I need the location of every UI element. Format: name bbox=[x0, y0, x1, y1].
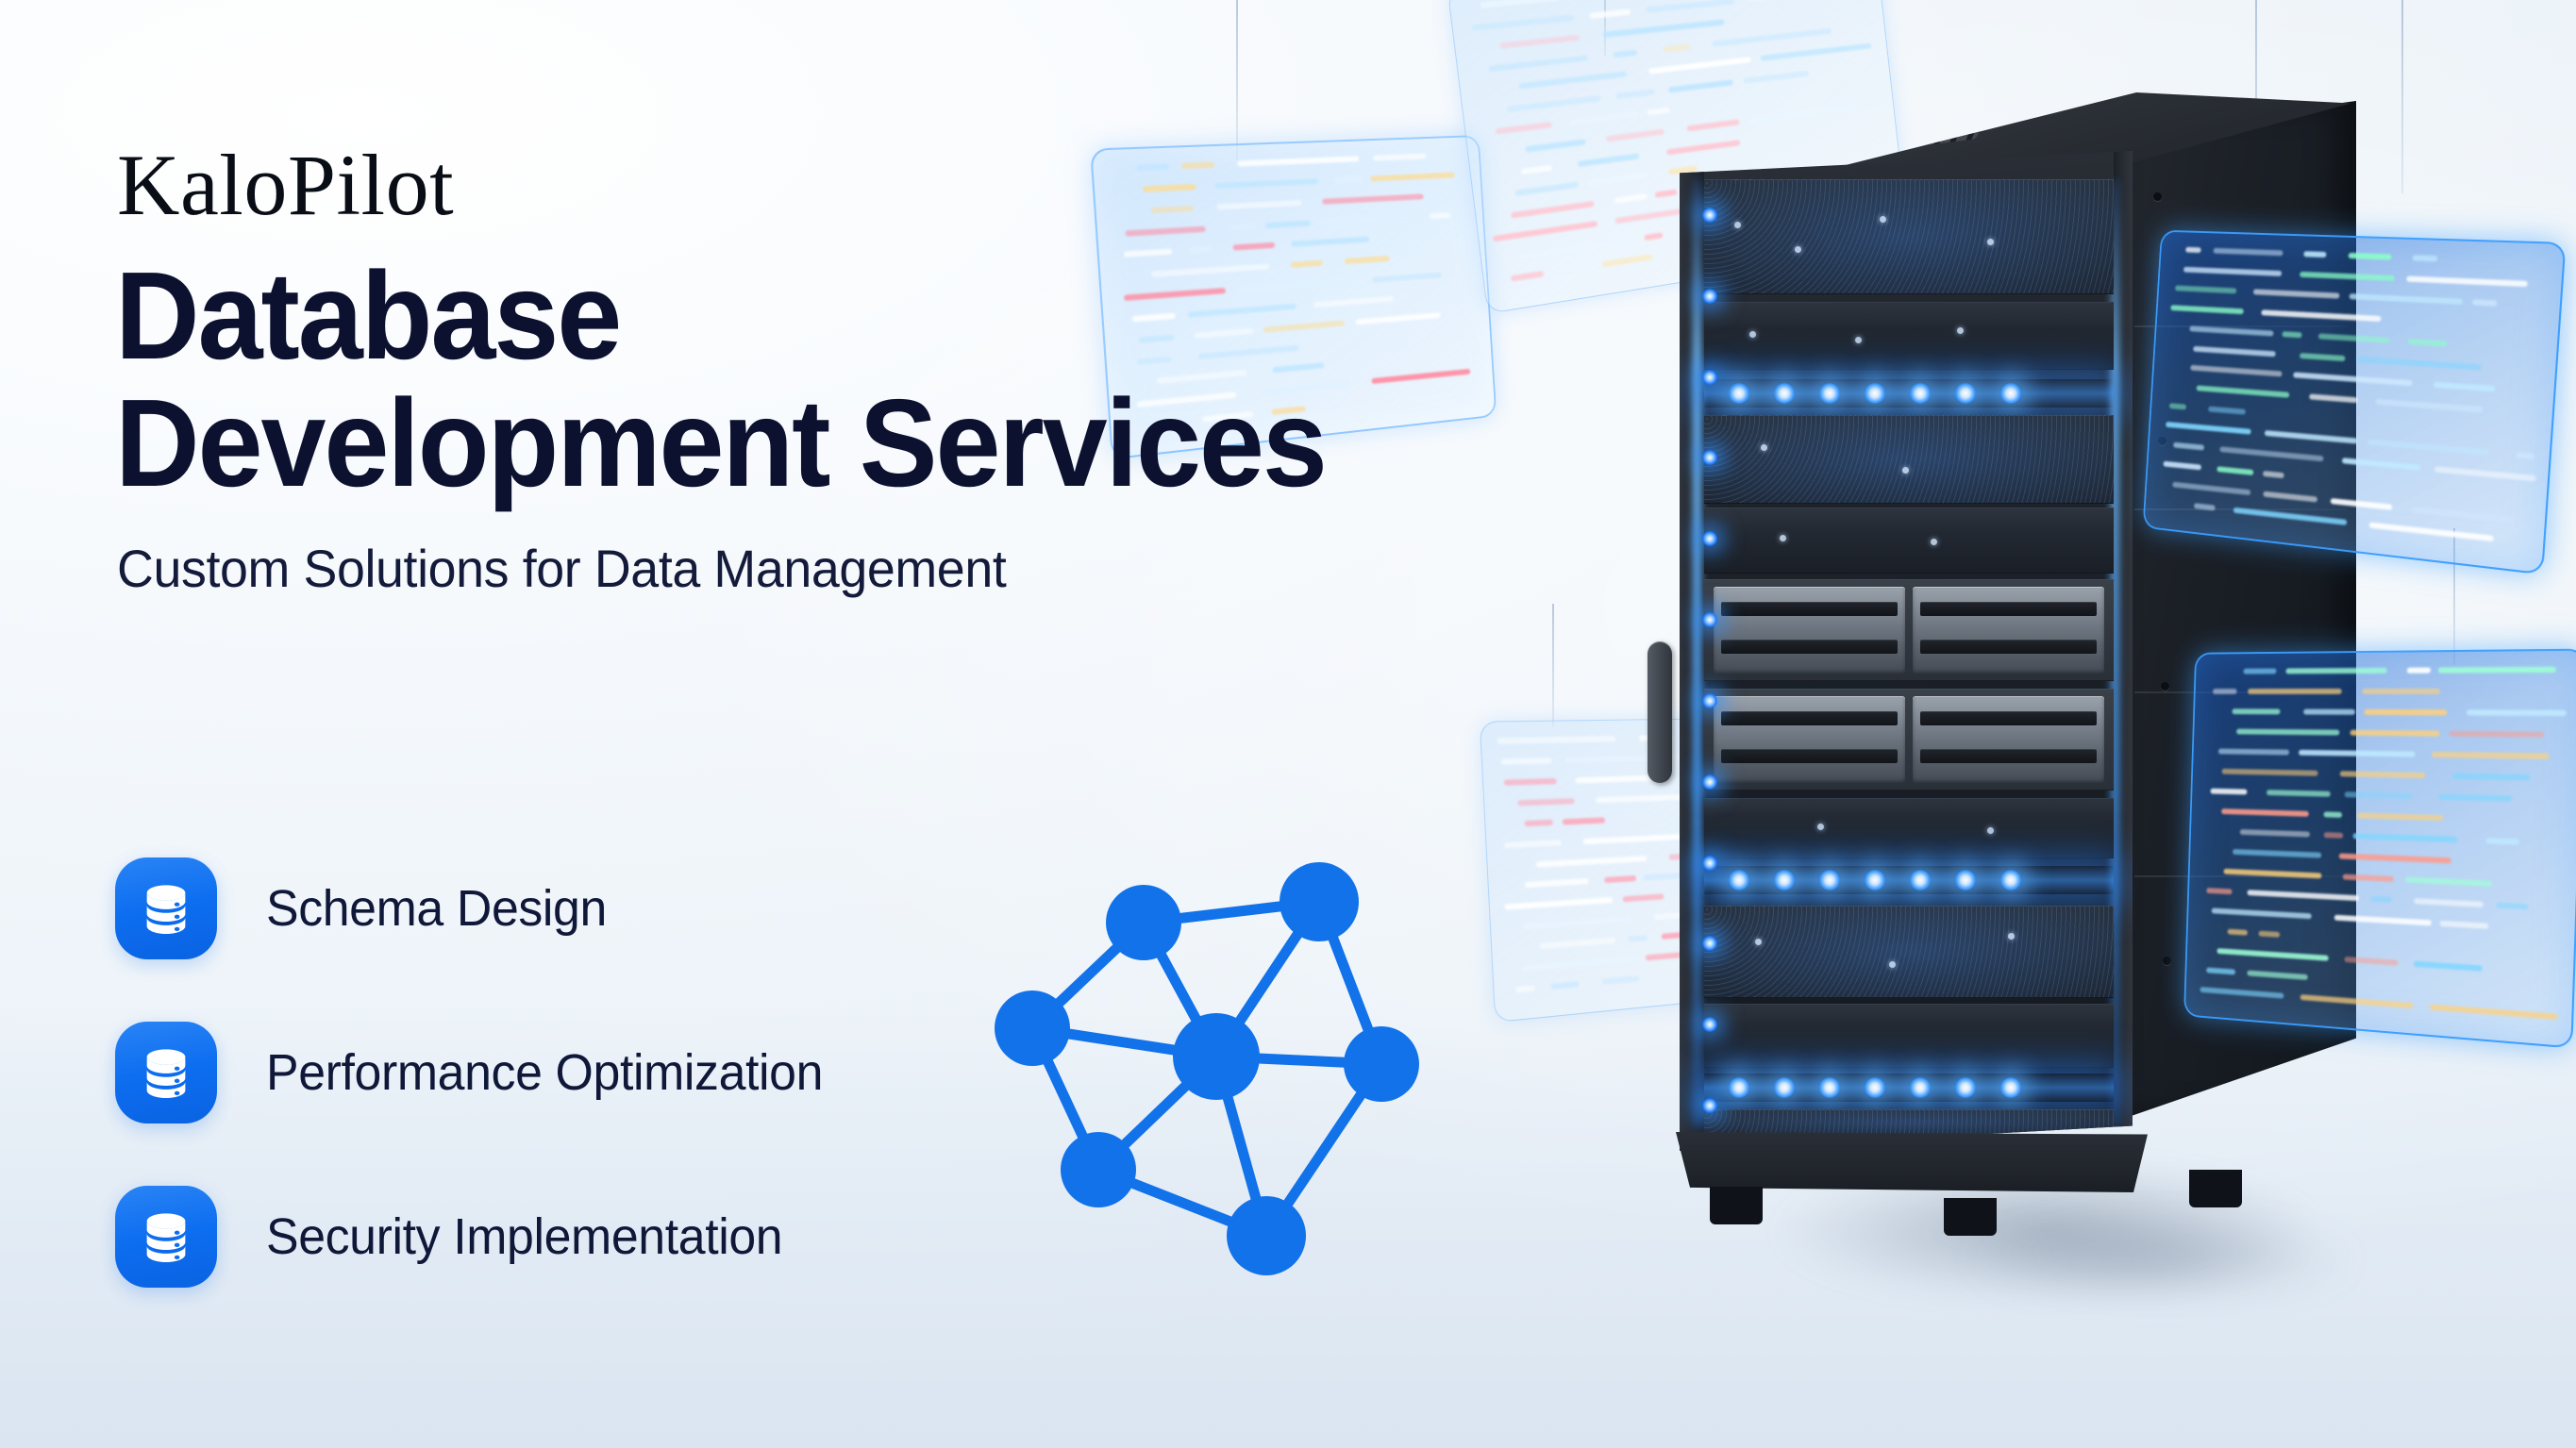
code-line-segment bbox=[2438, 667, 2556, 674]
code-line-segment bbox=[2212, 907, 2312, 919]
code-line-segment bbox=[1539, 938, 1615, 950]
code-line-segment bbox=[1515, 985, 1535, 992]
code-line-segment bbox=[2432, 752, 2550, 759]
code-line-segment bbox=[2263, 471, 2284, 478]
code-line-segment bbox=[1589, 8, 1631, 19]
code-line-segment bbox=[1613, 49, 1637, 58]
code-line-segment bbox=[2263, 491, 2317, 502]
code-line-segment bbox=[2331, 498, 2393, 510]
code-line-segment bbox=[1504, 778, 1557, 786]
code-line-segment bbox=[2449, 731, 2544, 738]
code-line-segment bbox=[2303, 251, 2326, 258]
code-line-segment bbox=[1606, 129, 1664, 142]
code-line-segment bbox=[2300, 994, 2414, 1008]
code-line-segment bbox=[2166, 422, 2251, 435]
code-line-segment bbox=[2352, 833, 2457, 842]
rack-door-handle bbox=[1648, 641, 1672, 783]
rack-unit bbox=[1704, 179, 2114, 294]
code-line-segment bbox=[2467, 709, 2567, 716]
code-line-segment bbox=[2194, 503, 2216, 510]
rack-foot bbox=[1710, 1187, 1763, 1224]
code-line-segment bbox=[1623, 894, 1664, 903]
code-line-segment bbox=[1603, 20, 1725, 39]
code-line-segment bbox=[2208, 406, 2246, 414]
code-line-segment bbox=[2236, 729, 2339, 736]
code-line-segment bbox=[1569, 111, 1638, 125]
code-line-segment bbox=[2233, 849, 2321, 858]
code-line-segment bbox=[2349, 294, 2463, 306]
code-line-segment bbox=[2210, 789, 2247, 795]
code-line-segment bbox=[1499, 35, 1580, 49]
code-line-segment bbox=[1712, 28, 1832, 47]
database-icon bbox=[115, 1022, 217, 1123]
panel-hanging-wire bbox=[1552, 604, 1554, 726]
hero-banner: KaloPilot Database Development Services … bbox=[0, 0, 2576, 1448]
code-line-segment bbox=[1604, 875, 1636, 883]
code-line-segment bbox=[1523, 916, 1631, 930]
code-line-segment bbox=[2218, 749, 2289, 756]
code-line-segment bbox=[2183, 266, 2282, 275]
headline-line-2: Development Services bbox=[115, 380, 1498, 508]
code-line-segment bbox=[2323, 811, 2342, 818]
code-line-segment bbox=[1480, 0, 1560, 8]
code-line-segment bbox=[2190, 365, 2283, 377]
code-line-segment bbox=[2170, 305, 2244, 314]
headline-line-1: Database bbox=[115, 246, 620, 385]
rack-units bbox=[1704, 168, 2114, 1136]
code-line-segment bbox=[1489, 55, 1589, 72]
panel-hanging-wire bbox=[1236, 0, 1238, 160]
code-line-segment bbox=[1496, 122, 1552, 135]
code-line-segment bbox=[2414, 898, 2484, 907]
rack-unit bbox=[1704, 302, 2114, 370]
code-line-segment bbox=[2342, 458, 2421, 471]
code-line-segment bbox=[1497, 736, 1615, 744]
page-subtitle: Custom Solutions for Data Management bbox=[117, 537, 1529, 600]
code-line-segment bbox=[2438, 794, 2512, 802]
code-line-segment bbox=[2411, 506, 2511, 522]
code-line-segment bbox=[2206, 888, 2232, 894]
code-lines bbox=[2185, 651, 2576, 1047]
code-line-segment bbox=[1615, 89, 1655, 99]
code-line-segment bbox=[2370, 896, 2392, 903]
code-line-segment bbox=[2364, 709, 2447, 715]
code-line-segment bbox=[2340, 771, 2426, 778]
code-line-segment bbox=[1614, 193, 1648, 204]
code-line-segment bbox=[2414, 961, 2483, 972]
code-line-segment bbox=[2407, 668, 2431, 674]
code-line-segment bbox=[2240, 829, 2310, 837]
code-line-segment bbox=[2223, 869, 2321, 879]
rack-unit bbox=[1704, 1109, 2114, 1136]
code-line-segment bbox=[2189, 325, 2273, 336]
page-title: Database Development Services bbox=[115, 253, 1498, 507]
code-line-segment bbox=[2344, 957, 2398, 966]
code-line-segment bbox=[2375, 399, 2483, 413]
drive-tray bbox=[1714, 696, 1905, 783]
code-line-segment bbox=[2485, 838, 2519, 844]
rack-drive-bay bbox=[1704, 689, 2114, 791]
graph-node bbox=[1227, 1196, 1306, 1275]
code-line-segment bbox=[2496, 902, 2529, 909]
code-line-segment bbox=[2413, 255, 2438, 261]
code-line-segment bbox=[2193, 345, 2276, 356]
code-line-segment bbox=[2309, 393, 2358, 403]
rack-unit bbox=[1704, 906, 2114, 998]
code-panel-right-lower bbox=[2183, 649, 2576, 1049]
code-line-segment bbox=[1629, 935, 1648, 942]
code-line-segment bbox=[2472, 300, 2498, 307]
code-line-segment bbox=[2265, 430, 2358, 444]
code-line-segment bbox=[2197, 385, 2290, 397]
rack-drive-bay bbox=[1704, 579, 2114, 681]
rack-unit bbox=[1704, 415, 2114, 504]
code-line-segment bbox=[1501, 757, 1552, 765]
graph-node bbox=[1280, 862, 1359, 941]
code-line-segment bbox=[2247, 890, 2358, 901]
code-line-segment bbox=[2285, 668, 2386, 674]
code-line-segment bbox=[2303, 709, 2355, 715]
database-icon bbox=[115, 857, 217, 959]
list-item: Security Implementation bbox=[115, 1182, 846, 1291]
code-line-segment bbox=[2216, 466, 2253, 475]
code-line-segment bbox=[2299, 750, 2416, 757]
code-line-segment bbox=[1522, 956, 1638, 972]
code-line-segment bbox=[2349, 253, 2392, 260]
code-line-segment bbox=[2434, 466, 2536, 481]
rack-foot bbox=[2189, 1170, 2242, 1207]
code-line-segment bbox=[1747, 0, 1803, 2]
code-line-segment bbox=[2243, 669, 2276, 674]
code-line-segment bbox=[2300, 272, 2395, 281]
drive-tray bbox=[1913, 696, 2104, 783]
code-line-segment bbox=[1563, 817, 1606, 824]
code-line-segment bbox=[2206, 967, 2235, 974]
network-graph bbox=[962, 849, 1453, 1292]
rack-foot bbox=[1944, 1198, 1997, 1236]
code-line-segment bbox=[1504, 897, 1613, 910]
code-line-segment bbox=[2430, 1004, 2558, 1020]
code-line-segment bbox=[2213, 689, 2237, 694]
list-item-label: Schema Design bbox=[266, 883, 607, 934]
graph-node bbox=[1173, 1013, 1260, 1100]
code-line-segment bbox=[1587, 173, 1648, 187]
code-line-segment bbox=[2318, 333, 2390, 342]
graph-node bbox=[995, 990, 1070, 1066]
code-line-segment bbox=[1744, 71, 1810, 84]
code-line-segment bbox=[1602, 975, 1640, 985]
code-line-segment bbox=[2408, 339, 2448, 347]
code-line-segment bbox=[2334, 915, 2432, 926]
code-line-segment bbox=[2267, 790, 2331, 797]
code-line-segment bbox=[1525, 878, 1589, 888]
code-line-segment bbox=[1550, 981, 1579, 990]
code-line-segment bbox=[2216, 948, 2328, 961]
code-line-segment bbox=[2406, 275, 2528, 287]
code-line-segment bbox=[2367, 440, 2489, 456]
code-line-segment bbox=[2173, 442, 2204, 451]
code-line-segment bbox=[2185, 247, 2201, 253]
rack-unit bbox=[1704, 508, 2114, 574]
code-line-segment bbox=[1668, 79, 1733, 92]
code-line-segment bbox=[2516, 452, 2534, 459]
rack-led-bar bbox=[1704, 379, 2114, 408]
code-line-segment bbox=[2357, 812, 2444, 821]
code-line-segment bbox=[2345, 791, 2414, 799]
code-line-segment bbox=[1648, 57, 1751, 74]
rack-base bbox=[1676, 1132, 2148, 1192]
code-panel-right-upper bbox=[2143, 230, 2567, 575]
code-line-segment bbox=[2362, 689, 2440, 694]
code-line-segment bbox=[2343, 874, 2394, 881]
rack-unit bbox=[1704, 798, 2114, 858]
code-line-segment bbox=[2169, 403, 2186, 409]
code-line-segment bbox=[1536, 856, 1648, 868]
drive-tray bbox=[1913, 587, 2104, 674]
code-line-segment bbox=[2233, 508, 2348, 525]
code-line-segment bbox=[2163, 461, 2201, 471]
code-line-segment bbox=[1761, 43, 1872, 61]
graph-node bbox=[1061, 1132, 1136, 1207]
database-icon bbox=[115, 1186, 217, 1288]
code-line-segment bbox=[2221, 808, 2309, 817]
code-line-segment bbox=[2405, 876, 2492, 886]
code-line-segment bbox=[2452, 774, 2531, 781]
drive-tray bbox=[1714, 587, 1905, 674]
code-line-segment bbox=[2253, 290, 2340, 299]
code-line-segment bbox=[1646, 0, 1734, 12]
list-item-label: Security Implementation bbox=[266, 1211, 782, 1262]
code-line-segment bbox=[1664, 43, 1691, 52]
code-line-segment bbox=[2172, 481, 2250, 494]
list-item-label: Performance Optimization bbox=[266, 1047, 823, 1098]
code-line-segment bbox=[1506, 95, 1600, 112]
code-line-segment bbox=[2324, 832, 2344, 839]
code-line-segment bbox=[2282, 331, 2301, 338]
rack-led-column bbox=[1700, 208, 1719, 1113]
code-line-segment bbox=[2258, 931, 2280, 938]
code-line-segment bbox=[2200, 987, 2283, 999]
list-item: Performance Optimization bbox=[115, 1018, 846, 1127]
code-line-segment bbox=[2440, 921, 2489, 929]
code-line-segment bbox=[2339, 853, 2451, 863]
code-line-segment bbox=[2356, 356, 2481, 370]
code-line-segment bbox=[1517, 798, 1575, 806]
code-line-segment bbox=[2261, 309, 2381, 322]
code-lines bbox=[2144, 232, 2564, 574]
code-line-segment bbox=[2300, 353, 2346, 361]
hero-text-block: KaloPilot Database Development Services … bbox=[115, 141, 1587, 600]
code-line-segment bbox=[2213, 248, 2283, 257]
code-line-segment bbox=[2232, 708, 2280, 714]
code-line-segment bbox=[2228, 929, 2248, 936]
code-line-segment bbox=[2248, 689, 2342, 694]
feature-list: Schema Design Pe bbox=[115, 854, 846, 1291]
code-line-segment bbox=[2350, 730, 2439, 737]
graph-node bbox=[1106, 885, 1181, 960]
code-line-segment bbox=[1602, 255, 1653, 268]
graph-node bbox=[1344, 1026, 1419, 1102]
code-line-segment bbox=[2222, 769, 2318, 776]
code-line-segment bbox=[1472, 14, 1574, 30]
code-line-segment bbox=[1524, 819, 1553, 826]
code-line-segment bbox=[2247, 971, 2307, 980]
rack-led-bar bbox=[1704, 1074, 2114, 1102]
brand-logo-text: KaloPilot bbox=[117, 141, 1587, 228]
code-line-segment bbox=[2293, 373, 2413, 387]
code-line-segment bbox=[2219, 446, 2323, 461]
code-line-segment bbox=[2175, 286, 2236, 294]
list-item: Schema Design bbox=[115, 854, 846, 963]
code-line-segment bbox=[1518, 72, 1627, 90]
rack-front-face bbox=[1680, 151, 2133, 1151]
rack-unit bbox=[1704, 1004, 2114, 1068]
rack-led-bar bbox=[1704, 866, 2114, 894]
code-line-segment bbox=[1504, 840, 1562, 848]
code-line-segment bbox=[2434, 382, 2496, 392]
code-line-segment bbox=[2369, 523, 2494, 542]
